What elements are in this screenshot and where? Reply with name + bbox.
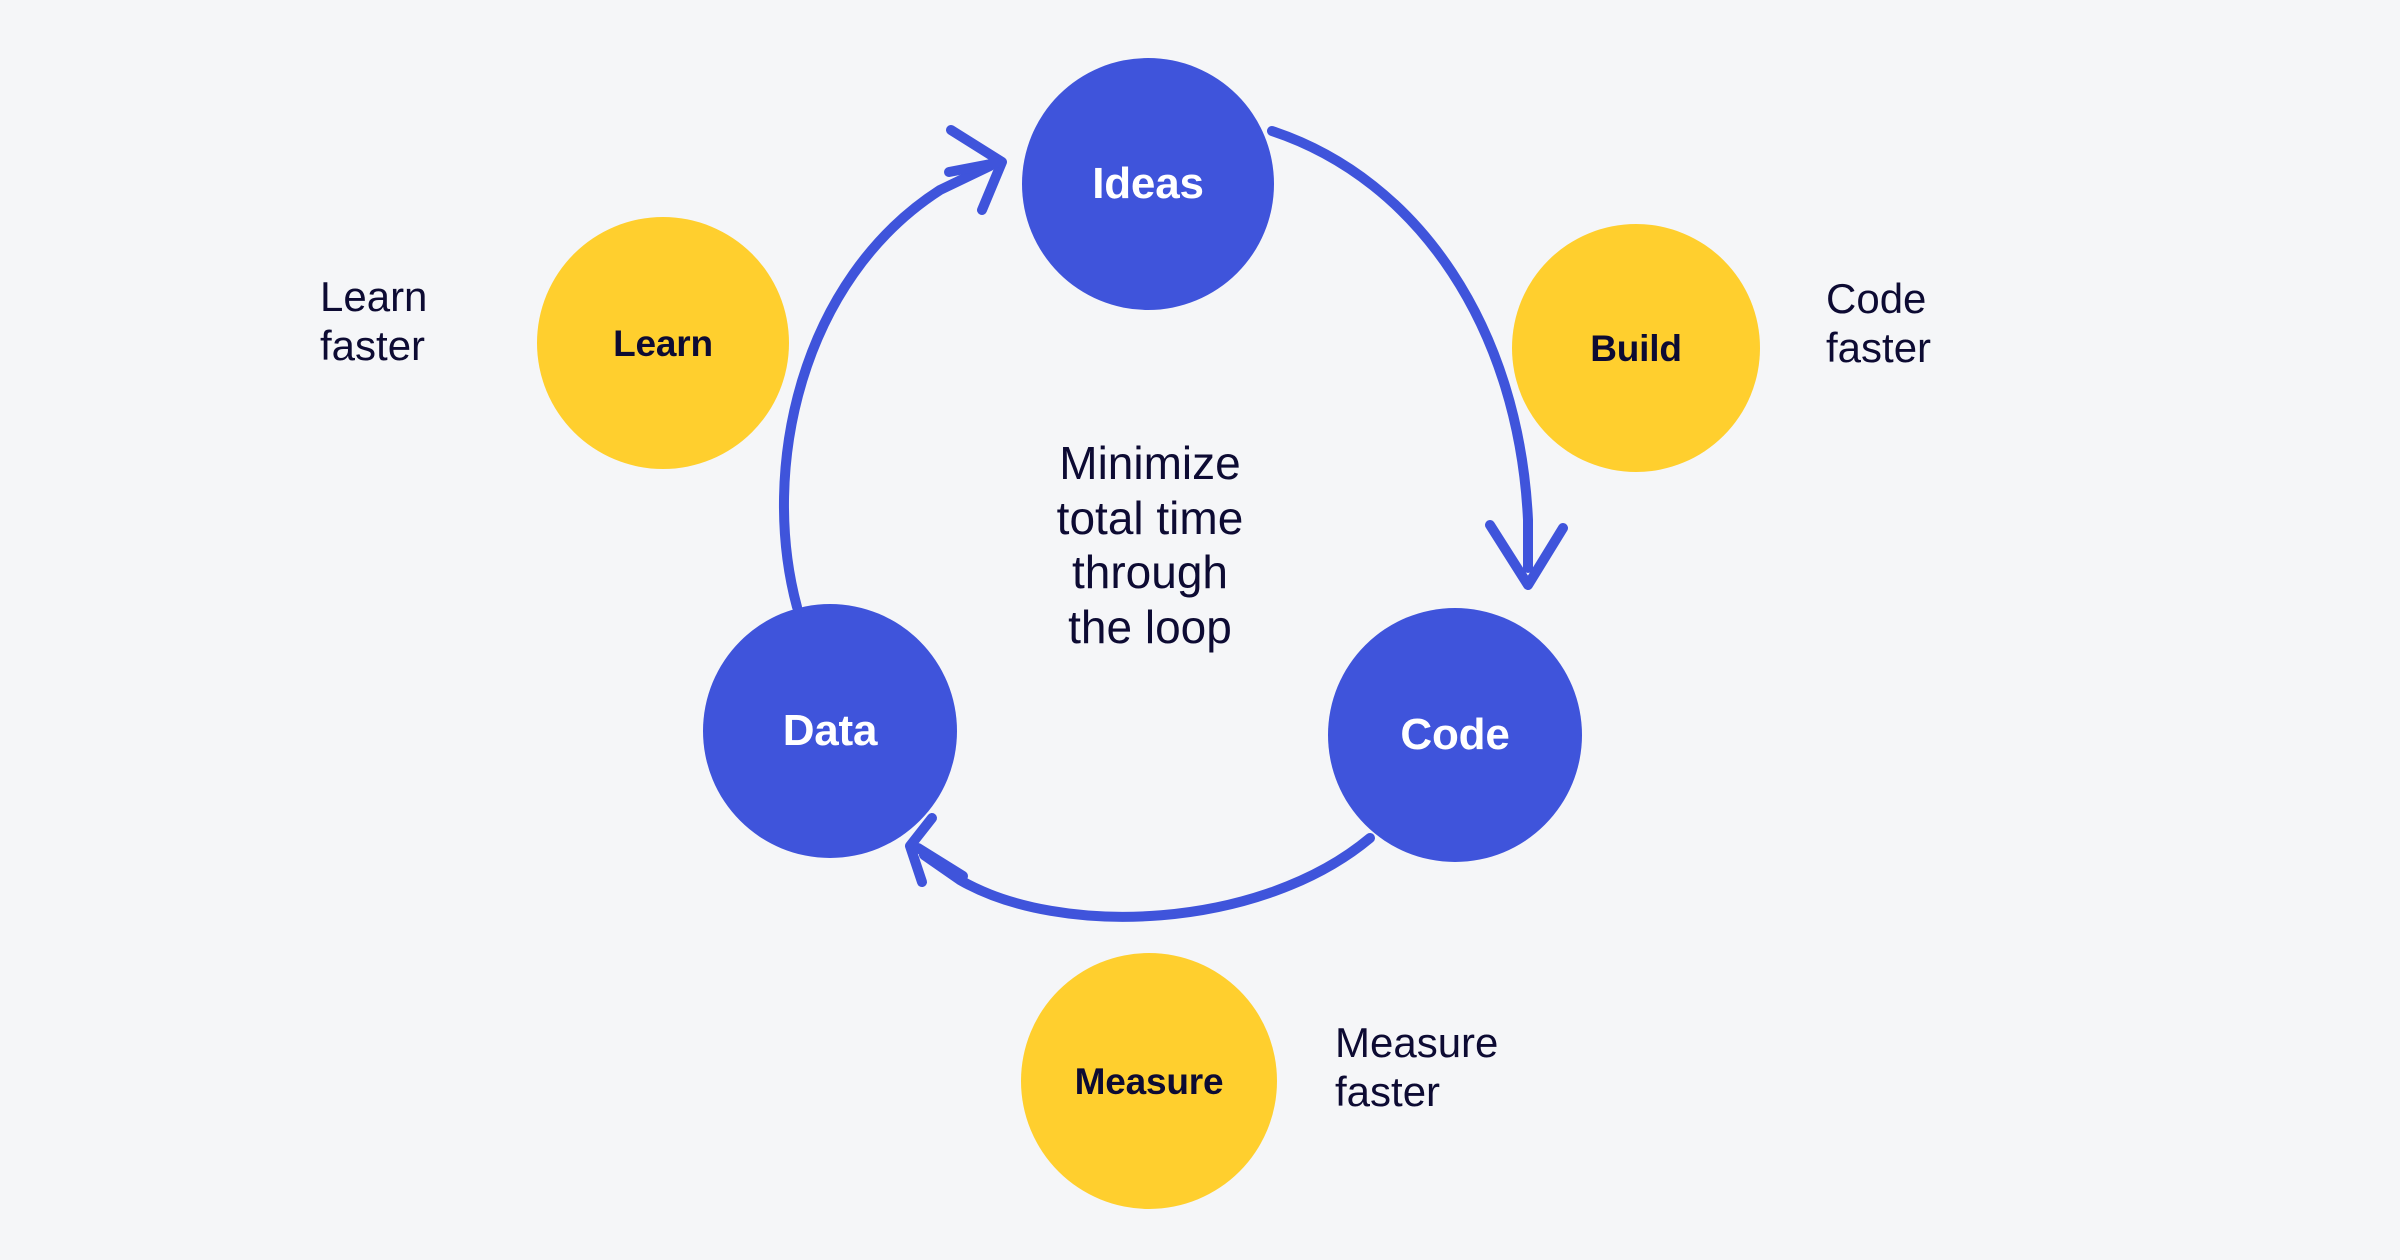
- action-node-measure[interactable]: Measure: [1021, 953, 1277, 1209]
- diagram-canvas: Ideas Code Data Learn Build Measure Lear…: [0, 0, 2400, 1260]
- loop-node-ideas-label: Ideas: [1092, 162, 1204, 206]
- loop-node-code-label: Code: [1400, 713, 1509, 757]
- caption-learn-faster: Learn faster: [320, 272, 427, 370]
- action-node-build-label: Build: [1590, 330, 1681, 367]
- loop-node-ideas[interactable]: Ideas: [1022, 58, 1274, 310]
- loop-node-code[interactable]: Code: [1328, 608, 1582, 862]
- loop-node-data-label: Data: [783, 709, 878, 753]
- action-node-learn[interactable]: Learn: [537, 217, 789, 469]
- caption-code-faster: Code faster: [1826, 274, 1931, 372]
- action-node-measure-label: Measure: [1075, 1063, 1224, 1100]
- arrow-code-to-data: [910, 818, 1370, 917]
- action-node-learn-label: Learn: [613, 325, 713, 362]
- loop-node-data[interactable]: Data: [703, 604, 957, 858]
- caption-measure-faster: Measure faster: [1335, 1018, 1498, 1116]
- action-node-build[interactable]: Build: [1512, 224, 1760, 472]
- center-caption: Minimize total time through the loop: [940, 436, 1360, 655]
